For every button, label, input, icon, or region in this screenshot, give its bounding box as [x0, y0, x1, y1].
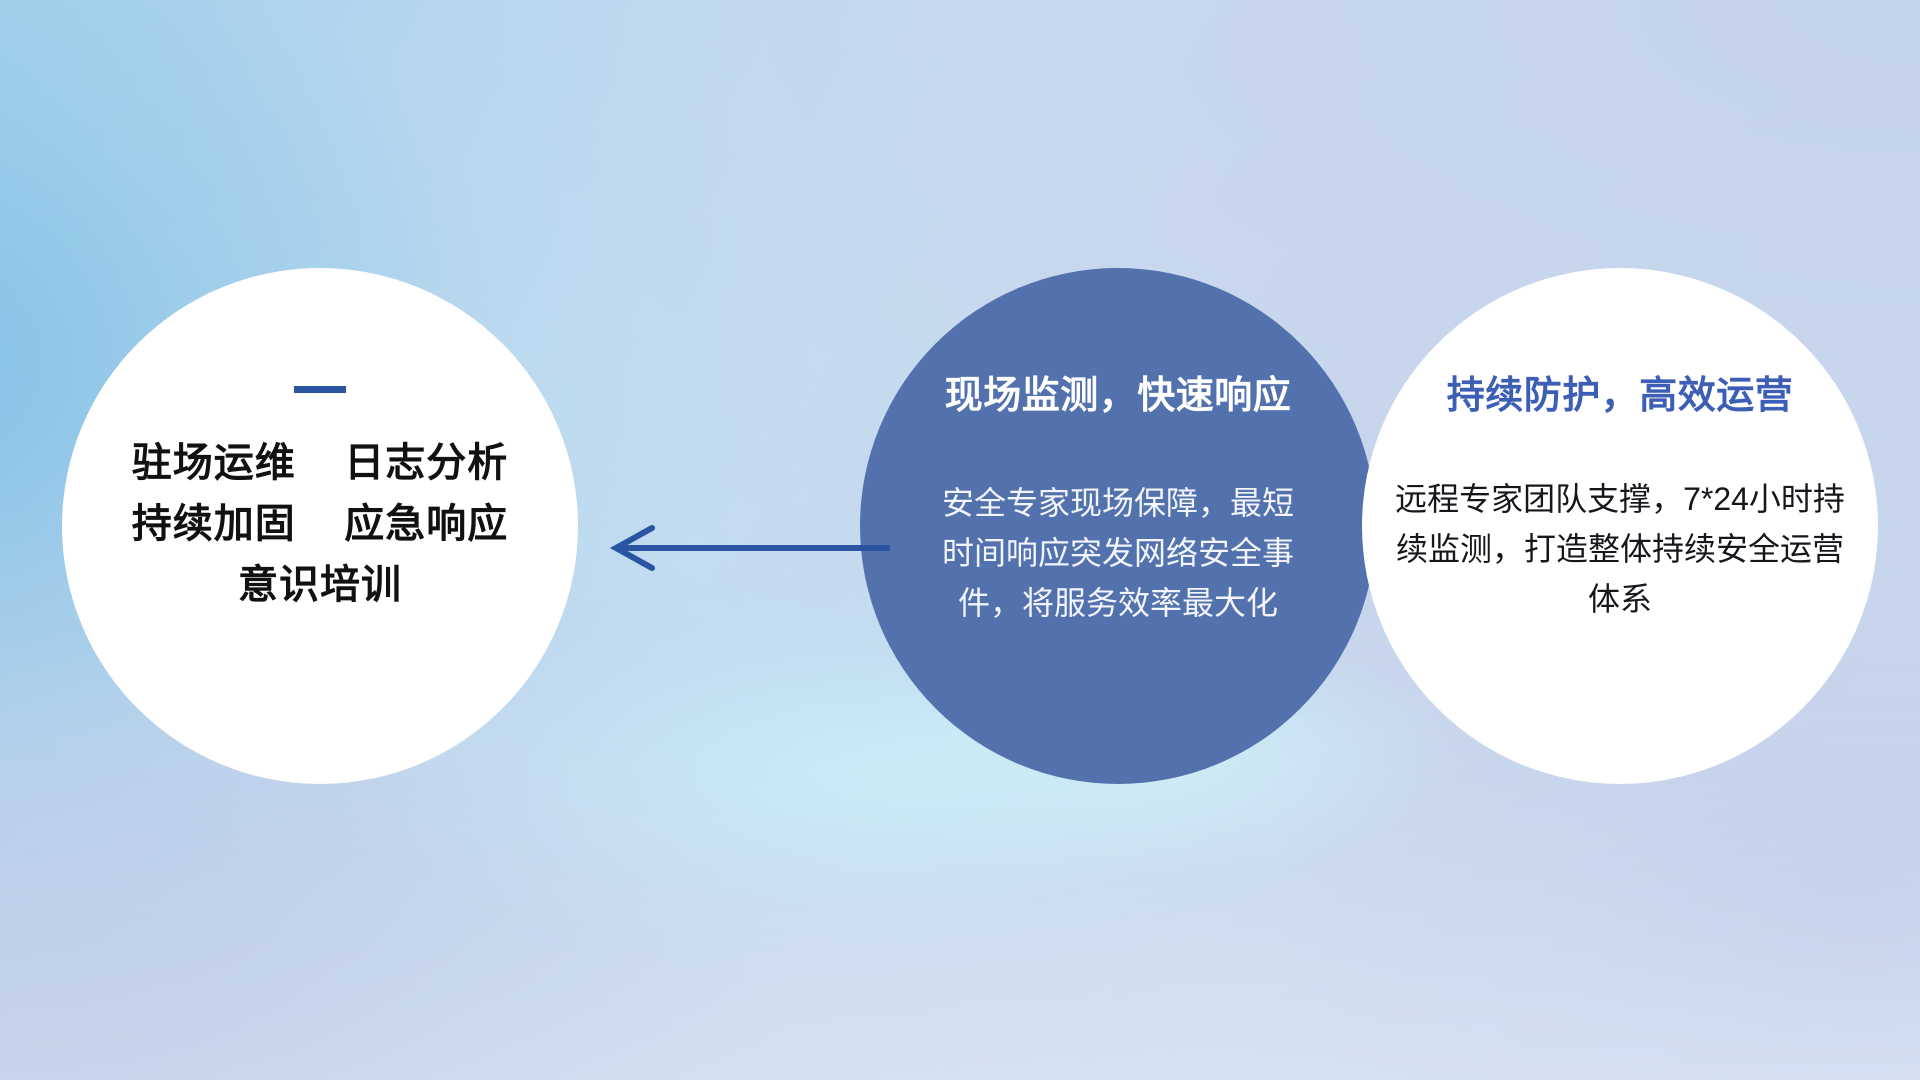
left-card-line-1: 驻场运维 日志分析	[132, 433, 508, 494]
left-card-line-3: 意识培训	[238, 555, 402, 616]
middle-card: 现场监测，快速响应 安全专家现场保障，最短时间响应突发网络安全事件，将服务效率最…	[860, 268, 1376, 784]
slide-canvas: 驻场运维 日志分析 持续加固 应急响应 意识培训 现场监测，快速响应 安全专家现…	[0, 0, 1920, 1080]
right-card: 持续防护，高效运营 远程专家团队支撑，7*24小时持续监测，打造整体持续安全运营…	[1362, 268, 1878, 784]
left-card: 驻场运维 日志分析 持续加固 应急响应 意识培训	[62, 268, 578, 784]
right-card-title: 持续防护，高效运营	[1447, 364, 1794, 419]
middle-card-body: 安全专家现场保障，最短时间响应突发网络安全事件，将服务效率最大化	[942, 479, 1294, 629]
right-card-body: 远程专家团队支撑，7*24小时持续监测，打造整体持续安全运营体系	[1394, 475, 1846, 625]
middle-card-title: 现场监测，快速响应	[945, 364, 1292, 419]
horizontal-dash-icon	[294, 386, 346, 393]
arrow-left-icon	[600, 522, 890, 574]
left-card-line-2: 持续加固 应急响应	[132, 494, 508, 555]
